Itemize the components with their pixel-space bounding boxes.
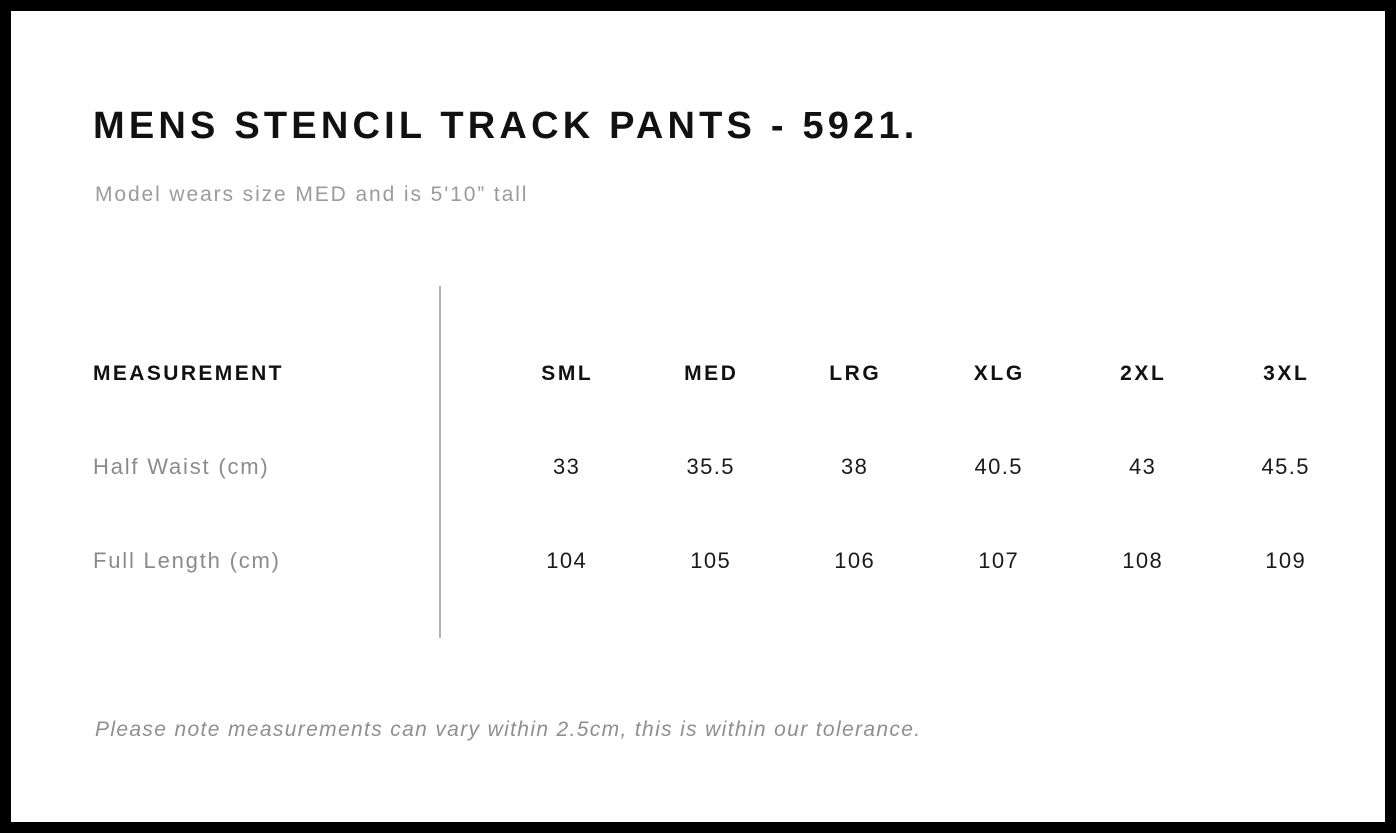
- table-header-row: MEASUREMENT SML MED LRG XLG 2XL 3XL: [11, 354, 1385, 394]
- cell-half-waist-3xl: 45.5: [1220, 447, 1350, 487]
- cell-half-waist-lrg: 38: [789, 447, 919, 487]
- column-header-measurement: MEASUREMENT: [93, 354, 284, 394]
- column-header-med: MED: [645, 354, 775, 394]
- table-row: Half Waist (cm) 33 35.5 38 40.5 43 45.5: [11, 447, 1385, 487]
- cell-full-length-2xl: 108: [1077, 541, 1207, 581]
- table-row: Full Length (cm) 104 105 106 107 108 109: [11, 541, 1385, 581]
- cell-half-waist-sml: 33: [501, 447, 631, 487]
- column-header-lrg: LRG: [789, 354, 919, 394]
- row-label-half-waist: Half Waist (cm): [93, 447, 270, 487]
- column-header-sml: SML: [501, 354, 631, 394]
- cell-full-length-xlg: 107: [933, 541, 1063, 581]
- cell-full-length-3xl: 109: [1220, 541, 1350, 581]
- measurements-table: MEASUREMENT SML MED LRG XLG 2XL 3XL Half…: [11, 11, 1385, 822]
- size-chart-content: MENS STENCIL TRACK PANTS - 5921. Model w…: [11, 11, 1385, 822]
- cell-half-waist-med: 35.5: [645, 447, 775, 487]
- cell-full-length-med: 105: [645, 541, 775, 581]
- cell-half-waist-xlg: 40.5: [933, 447, 1063, 487]
- size-chart-card: MENS STENCIL TRACK PANTS - 5921. Model w…: [11, 11, 1385, 822]
- column-header-3xl: 3XL: [1220, 354, 1350, 394]
- cell-full-length-sml: 104: [501, 541, 631, 581]
- cell-full-length-lrg: 106: [789, 541, 919, 581]
- tolerance-footnote: Please note measurements can vary within…: [95, 719, 921, 740]
- cell-half-waist-2xl: 43: [1077, 447, 1207, 487]
- column-header-xlg: XLG: [933, 354, 1063, 394]
- row-label-full-length: Full Length (cm): [93, 541, 281, 581]
- column-header-2xl: 2XL: [1077, 354, 1207, 394]
